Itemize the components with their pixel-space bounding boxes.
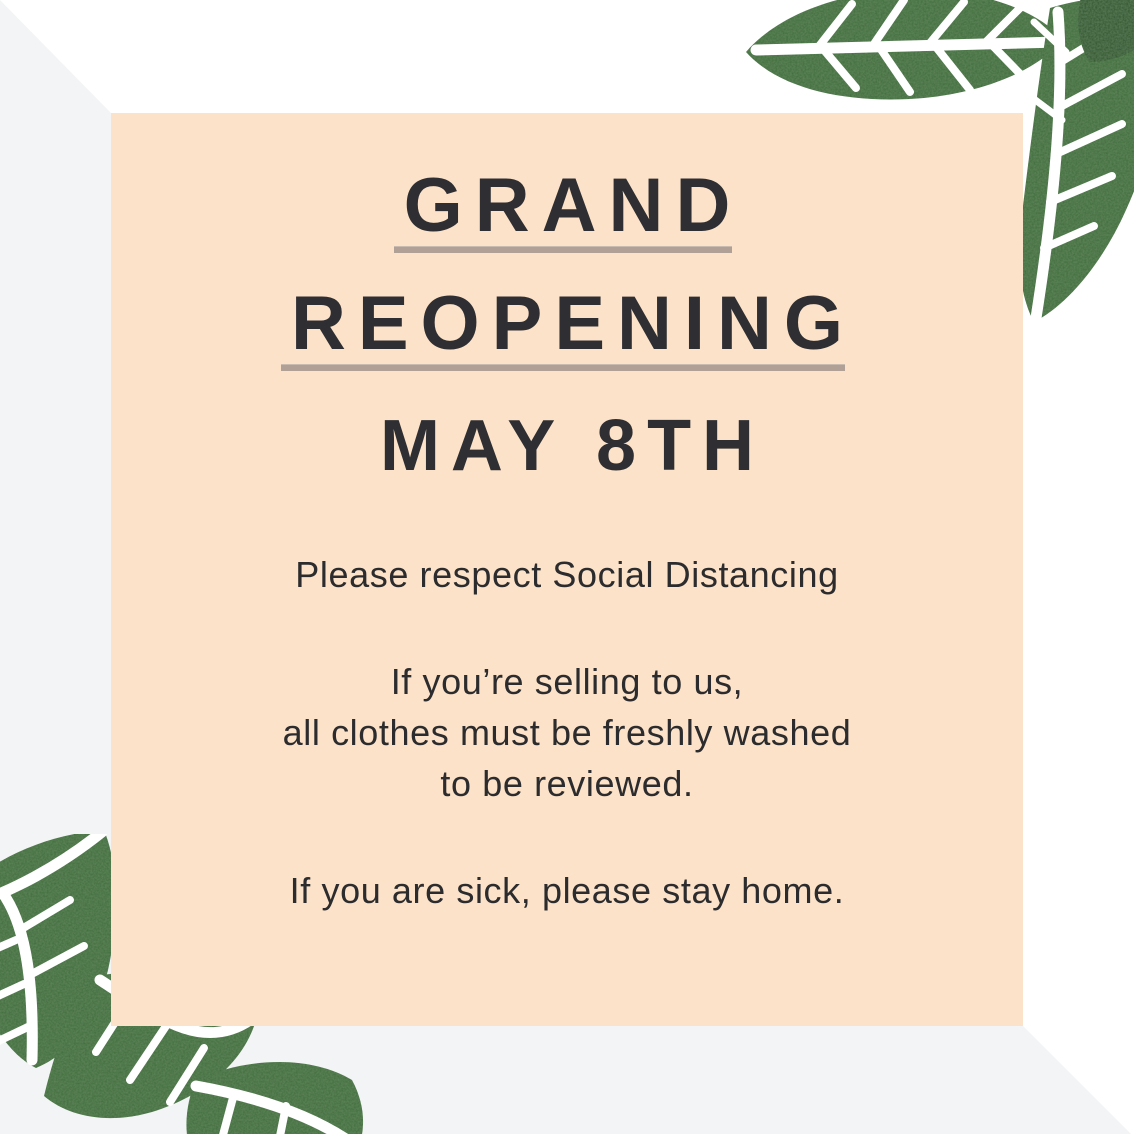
headline-block: GRAND REOPENING MAY 8TH [111,165,1023,485]
headline-line-reopening: REOPENING [279,283,855,365]
frame-panel-bottom [0,1026,1134,1134]
selling-line-3: to be reviewed. [440,763,693,804]
headline-line-grand: GRAND [392,165,743,247]
stay-home-note: If you are sick, please stay home. [111,865,1023,916]
event-date: MAY 8TH [369,409,765,485]
headline-underline-grand [394,246,733,253]
announcement-card: GRAND REOPENING MAY 8TH Please respect S… [111,113,1023,1026]
headline-text-reopening: REOPENING [291,281,855,366]
body-copy: Please respect Social Distancing If you’… [111,549,1023,917]
social-distancing-text: Please respect Social Distancing [295,554,838,595]
frame-panel-left [0,0,111,1134]
headline-text-grand: GRAND [404,163,743,248]
poster-canvas: GRAND REOPENING MAY 8TH Please respect S… [0,0,1134,1134]
selling-instructions: If you’re selling to us, all clothes mus… [111,656,1023,809]
selling-line-1: If you’re selling to us, [391,661,744,702]
selling-line-2: all clothes must be freshly washed [283,712,852,753]
social-distancing-note: Please respect Social Distancing [111,549,1023,600]
headline-underline-reopening [281,364,845,371]
stay-home-text: If you are sick, please stay home. [290,870,845,911]
